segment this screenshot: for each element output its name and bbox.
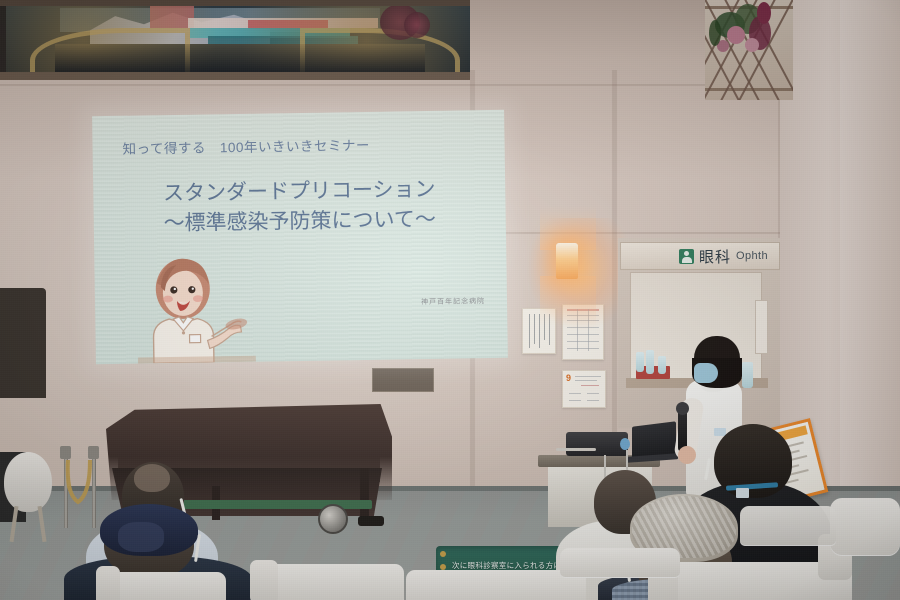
- water-bottle: [658, 356, 666, 374]
- audience-scalp: [134, 464, 170, 492]
- slide-kicker: 知って得する 100年いきいきセミナー: [122, 134, 370, 158]
- slide-hospital-credit: 神戸百年記念病院: [421, 296, 485, 307]
- notice-month-nine: 9: [562, 370, 606, 408]
- piano-leg: [360, 468, 369, 520]
- sign-department-jp: 眼科: [699, 246, 731, 267]
- nurse-illustration: [136, 252, 256, 364]
- microphone-head: [676, 402, 689, 415]
- cap-back-panel: [118, 522, 164, 552]
- id-badge: [736, 488, 749, 498]
- chair-armrest: [96, 566, 120, 600]
- piano-foot: [358, 516, 384, 526]
- projected-slide: 知って得する 100年いきいきセミナー スタンダードプリコーション 〜標準感染予…: [92, 110, 508, 364]
- slide-title-line2: 〜標準感染予防策について〜: [94, 202, 506, 238]
- velvet-rope: [66, 458, 92, 506]
- projector: [566, 432, 628, 456]
- water-bottle: [636, 352, 644, 372]
- chair-armrest: [250, 560, 278, 600]
- lobby-chair-back: [4, 452, 52, 512]
- stained-glass-window: [0, 0, 470, 78]
- wall-sconce-light: [556, 243, 578, 279]
- lobby-chair-right-back: [740, 506, 836, 546]
- lobby-chair-far-right: [830, 498, 900, 556]
- dark-doorway: [0, 288, 46, 398]
- person-icon: [679, 249, 694, 264]
- balcony-flowers: [705, 0, 793, 100]
- surgical-mask-icon: [694, 363, 718, 383]
- notice-vertical-strip: [755, 300, 768, 354]
- photo-scene: 9 眼科 Ophth 知って得する 100年いきいきセミナー スタンダードプリコ…: [0, 0, 900, 600]
- sign-department-en: Ophth: [736, 250, 768, 262]
- projector-lens-icon: [620, 438, 630, 450]
- lobby-chair-mid-right: [560, 548, 680, 578]
- cable: [556, 448, 596, 451]
- lobby-chair-front-center: [406, 570, 586, 600]
- presenter-hand: [678, 446, 696, 464]
- piano-caster: [318, 504, 348, 534]
- stained-glass-frame: [0, 72, 470, 80]
- ophthalmology-sign: 眼科 Ophth: [620, 242, 780, 270]
- water-bottle: [646, 350, 654, 374]
